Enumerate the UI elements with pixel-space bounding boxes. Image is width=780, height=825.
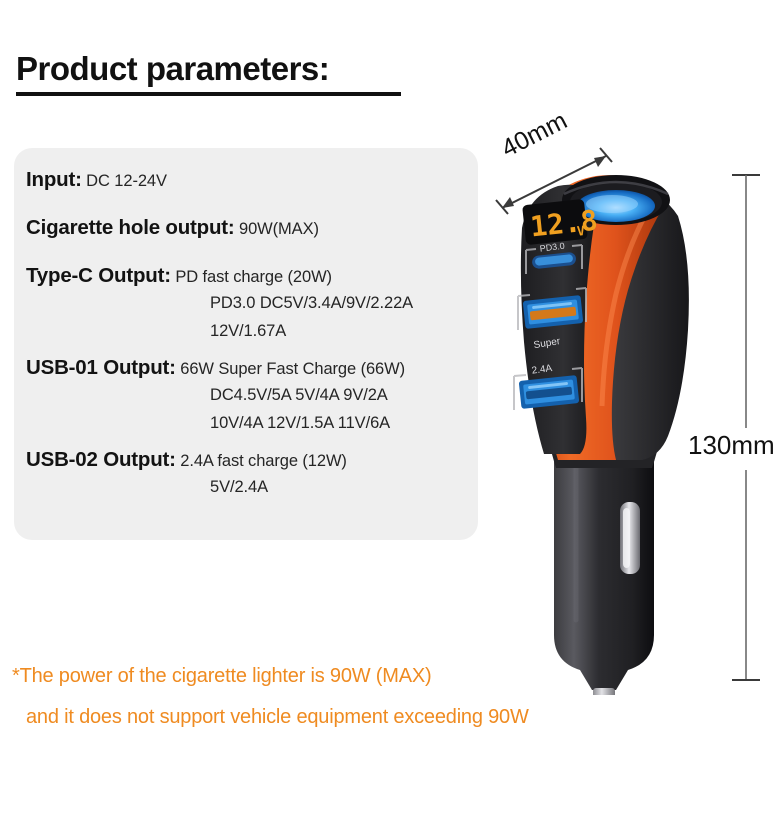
height-dimension-line <box>726 170 766 685</box>
spec-value: 2.4A fast charge (12W) <box>180 452 347 470</box>
spec-row-input: Input: DC 12-24V <box>26 168 167 192</box>
spec-value-extra: 5V/2.4A <box>210 478 268 497</box>
spec-value-extra: DC4.5V/5A 5V/4A 9V/2A <box>210 386 388 405</box>
led-voltage-value: 12.8 <box>529 204 600 244</box>
spec-value-extra: 10V/4A 12V/1.5A 11V/6A <box>210 414 390 433</box>
plug-barrel <box>554 450 654 695</box>
spec-panel: Input: DC 12-24V Cigarette hole output: … <box>14 148 478 540</box>
product-illustration: 12.8 V PD3.0 Super 2.4A <box>492 150 722 695</box>
spec-row-cigarette-hole-output: Cigarette hole output: 90W(MAX) <box>26 216 319 240</box>
spec-value: DC 12-24V <box>86 172 167 190</box>
spec-label: Cigarette hole output: <box>26 216 235 239</box>
spec-value: 66W Super Fast Charge (66W) <box>180 360 405 378</box>
spec-value: 90W(MAX) <box>239 220 319 238</box>
spec-value-extra: PD3.0 DC5V/3.4A/9V/2.22A <box>210 294 413 313</box>
spec-row-usb-01-output: USB-01 Output: 66W Super Fast Charge (66… <box>26 356 405 380</box>
spec-label: Input: <box>26 168 82 191</box>
spec-value: PD fast charge (20W) <box>175 268 332 286</box>
warning-line-2: and it does not support vehicle equipmen… <box>26 706 529 729</box>
spec-row-type-c-output: Type-C Output: PD fast charge (20W) <box>26 264 332 288</box>
spec-label: USB-01 Output: <box>26 356 176 379</box>
spec-label: Type-C Output: <box>26 264 171 287</box>
height-dimension-label: 130mm <box>688 430 775 461</box>
spec-value-extra: 12V/1.67A <box>210 322 286 341</box>
spec-row-usb-02-output: USB-02 Output: 2.4A fast charge (12W) <box>26 448 347 472</box>
page-title: Product parameters: <box>16 50 329 88</box>
warning-line-1: *The power of the cigarette lighter is 9… <box>12 665 431 688</box>
spec-label: USB-02 Output: <box>26 448 176 471</box>
plug-tip <box>593 688 615 695</box>
title-underline <box>16 92 401 96</box>
